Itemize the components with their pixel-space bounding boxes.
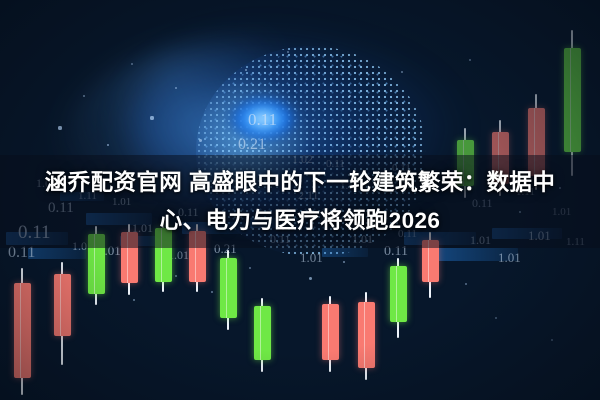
headline-text: 涵乔配资官网 高盛眼中的下一轮建筑繁荣：数据中 心、电力与医疗将领跑2026 [0, 155, 600, 248]
cover-image: 0.110.111.011.011.011.111.011.010.110.21… [0, 0, 600, 400]
headline-line-1: 涵乔配资官网 高盛眼中的下一轮建筑繁荣：数据中 [39, 164, 561, 202]
headline-line-2: 心、电力与医疗将领跑2026 [154, 202, 447, 240]
